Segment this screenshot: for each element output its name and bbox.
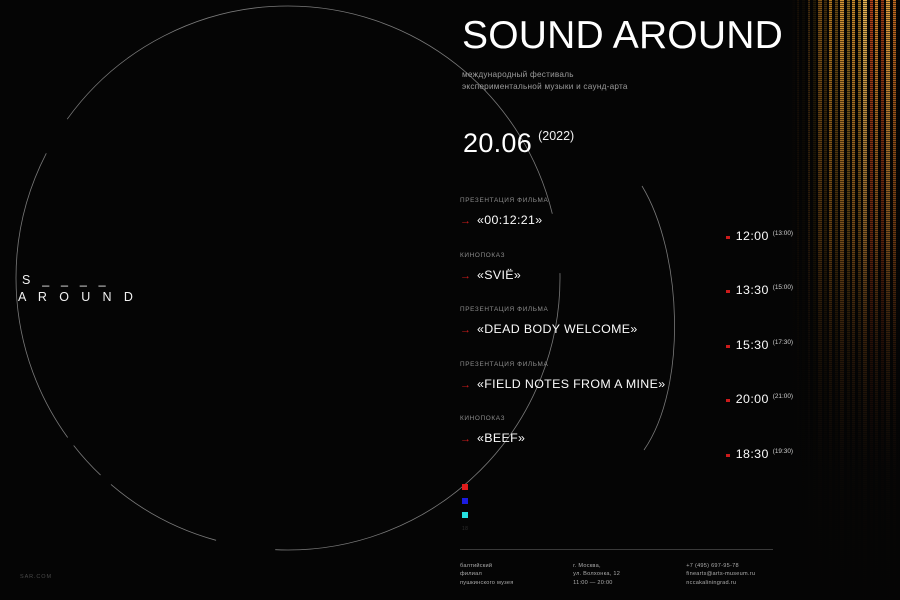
schedule-title: «BEEF» (477, 431, 525, 445)
schedule-title-group: → «SVIË» (460, 268, 790, 282)
schedule-time: 15:30 (736, 339, 769, 352)
schedule-category: КИНОПОКАЗ (460, 414, 790, 423)
footer-address-street: ул. Волхонка, 12 (573, 570, 686, 578)
schedule-row[interactable]: ПРЕЗЕНТАЦИЯ ФИЛЬМА → «00:12:21» 12:00 (1… (460, 196, 790, 251)
schedule-time-group: 13:30 (15:00) (726, 284, 793, 297)
footer-venue-line-1: балтийский (460, 562, 573, 570)
schedule-title-group: → «BEEF» (460, 431, 790, 445)
logo-line-bottom: A R O U N D (18, 289, 138, 306)
swatch-red (462, 484, 468, 490)
schedule-time-alt: (17:30) (773, 339, 793, 347)
schedule-time: 18:30 (736, 448, 769, 461)
schedule-time-group: 15:30 (17:30) (726, 339, 793, 352)
schedule-row[interactable]: ПРЕЗЕНТАЦИЯ ФИЛЬМА → «DEAD BODY WELCOME»… (460, 305, 790, 360)
date-day-month: 20.06 (463, 129, 532, 157)
footer-email[interactable]: finearts@arts-museum.ru (686, 570, 790, 578)
footer-address: г. Москва, ул. Волхонка, 12 11:00 — 20:0… (573, 562, 686, 587)
schedule-title: «00:12:21» (477, 213, 543, 227)
footer-phone[interactable]: +7 (495) 697-95-78 (686, 562, 790, 570)
swatch-cyan (462, 512, 468, 518)
page-title: SOUND AROUND (462, 14, 792, 58)
festival-logo: S _ _ _ _ A R O U N D (18, 272, 138, 306)
decorative-circle (150, 0, 426, 588)
glitch-stripes-graphic (790, 0, 900, 600)
site-url[interactable]: SAR.COM (20, 574, 52, 580)
bullet-dot-icon (726, 345, 729, 348)
schedule-title-group: → «FIELD NOTES FROM A MINE» (460, 377, 790, 391)
arrow-right-icon: → (460, 434, 471, 445)
schedule-category: ПРЕЗЕНТАЦИЯ ФИЛЬМА (460, 305, 790, 314)
schedule-row[interactable]: КИНОПОКАЗ → «BEEF» 18:30 (19:30) (460, 414, 790, 469)
schedule-title: «SVIË» (477, 268, 521, 282)
event-date: 20.06 (2022) (463, 129, 574, 157)
arrow-right-icon: → (460, 271, 471, 282)
bullet-dot-icon (726, 454, 729, 457)
schedule-time: 13:30 (736, 284, 769, 297)
bullet-dot-icon (726, 290, 729, 293)
schedule-time-alt: (13:00) (773, 230, 793, 238)
schedule-title: «DEAD BODY WELCOME» (477, 322, 638, 336)
schedule-list: ПРЕЗЕНТАЦИЯ ФИЛЬМА → «00:12:21» 12:00 (1… (460, 196, 790, 469)
schedule-time-alt: (19:30) (773, 448, 793, 456)
schedule-row[interactable]: ПРЕЗЕНТАЦИЯ ФИЛЬМА → «FIELD NOTES FROM A… (460, 360, 790, 415)
schedule-time-group: 12:00 (13:00) (726, 230, 793, 243)
arrow-right-icon: → (460, 380, 471, 391)
subtitle-line-2: экспериментальной музыки и саунд-арта (462, 81, 792, 93)
logo-line-top: S _ _ _ _ (18, 272, 138, 289)
bullet-dot-icon (726, 399, 729, 402)
schedule-category: ПРЕЗЕНТАЦИЯ ФИЛЬМА (460, 360, 790, 369)
schedule-time-group: 18:30 (19:30) (726, 448, 793, 461)
subtitle: международный фестиваль экспериментально… (462, 69, 792, 94)
footer-website[interactable]: nccakaliningrad.ru (686, 579, 790, 587)
color-swatches: 18 (462, 484, 468, 532)
swatch-blue (462, 498, 468, 504)
subtitle-line-1: международный фестиваль (462, 69, 792, 81)
schedule-title: «FIELD NOTES FROM A MINE» (477, 377, 665, 391)
arrow-right-icon: → (460, 216, 471, 227)
footer-divider (460, 549, 773, 550)
footer-address-hours: 11:00 — 20:00 (573, 579, 686, 587)
schedule-time-alt: (21:00) (773, 393, 793, 401)
footer-venue-line-2: филиал (460, 570, 573, 578)
schedule-time-alt: (15:00) (773, 284, 793, 292)
swatch-note: 18 (462, 526, 468, 532)
footer-contacts: +7 (495) 697-95-78 finearts@arts-museum.… (686, 562, 790, 587)
schedule-category: КИНОПОКАЗ (460, 251, 790, 260)
header: SOUND AROUND международный фестиваль экс… (462, 14, 792, 94)
date-year: (2022) (538, 130, 574, 143)
footer-venue-line-3: пушкинского музея (460, 579, 573, 587)
schedule-category: ПРЕЗЕНТАЦИЯ ФИЛЬМА (460, 196, 790, 205)
poster-canvas: S _ _ _ _ A R O U N D SAR.COM SOUND AROU… (0, 0, 900, 600)
arrow-right-icon: → (460, 325, 471, 336)
schedule-time: 20:00 (736, 393, 769, 406)
footer-address-city: г. Москва, (573, 562, 686, 570)
footer: балтийский филиал пушкинского музея г. М… (460, 562, 790, 587)
footer-venue: балтийский филиал пушкинского музея (460, 562, 573, 587)
schedule-title-group: → «00:12:21» (460, 213, 790, 227)
schedule-row[interactable]: КИНОПОКАЗ → «SVIË» 13:30 (15:00) (460, 251, 790, 306)
schedule-title-group: → «DEAD BODY WELCOME» (460, 322, 790, 336)
bullet-dot-icon (726, 236, 729, 239)
schedule-time-group: 20:00 (21:00) (726, 393, 793, 406)
schedule-time: 12:00 (736, 230, 769, 243)
